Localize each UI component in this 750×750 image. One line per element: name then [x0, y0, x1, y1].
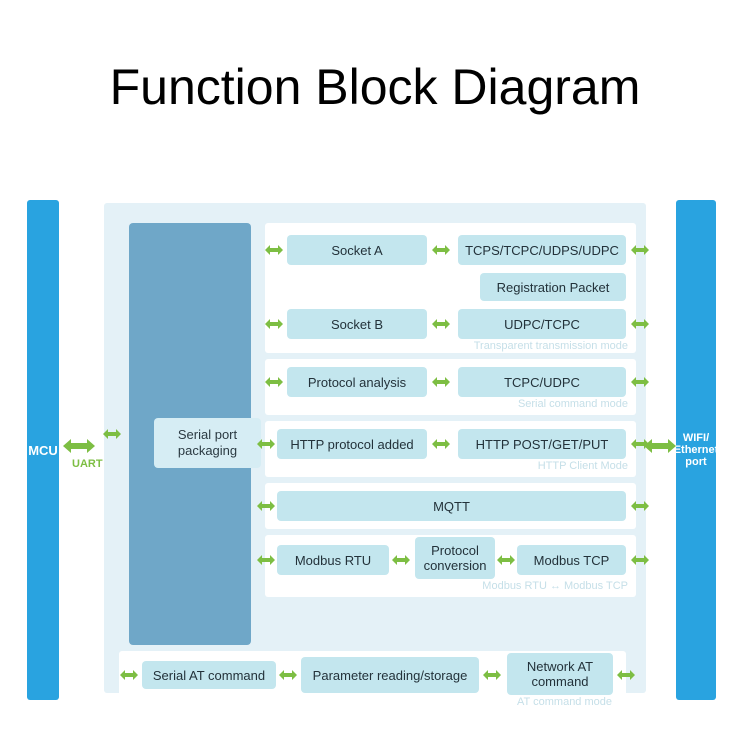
page-title: Function Block Diagram [0, 58, 750, 116]
panel-modbus: Modbus RTU Protocol conversion Modbus TC… [265, 535, 636, 597]
arrow-icon [392, 554, 410, 566]
arrow-icon [432, 438, 450, 450]
mcu-port-bar[interactable]: MCU [27, 200, 59, 700]
serial-processing-column: Serial port packaging [129, 223, 251, 645]
arrow-icon [631, 376, 649, 388]
arrow-icon [631, 554, 649, 566]
arrow-icon [257, 438, 275, 450]
block-tcps-tcpc-udps-udpc[interactable]: TCPS/TCPC/UDPS/UDPC [458, 235, 626, 265]
arrow-icon [257, 500, 275, 512]
arrow-icon [432, 244, 450, 256]
mode-tag-modbus: Modbus RTU ↔ Modbus TCP [482, 580, 628, 592]
block-http-post-get-put[interactable]: HTTP POST/GET/PUT [458, 429, 626, 459]
mode-tag-at-command: AT command mode [517, 696, 612, 708]
block-modbus-tcp[interactable]: Modbus TCP [517, 545, 626, 575]
block-network-at-command[interactable]: Network AT command [507, 653, 613, 695]
mcu-port-label: MCU [28, 443, 58, 458]
arrow-icon [497, 554, 515, 566]
block-registration-packet[interactable]: Registration Packet [480, 273, 626, 301]
arrow-icon [631, 318, 649, 330]
block-udpc-tcpc[interactable]: UDPC/TCPC [458, 309, 626, 339]
network-port-bar[interactable]: WIFI/ Ethernet port [676, 200, 716, 700]
block-serial-at-command[interactable]: Serial AT command [142, 661, 276, 689]
uart-arrow-icon [62, 437, 96, 455]
mode-tag-transparent: Transparent transmission mode [474, 340, 628, 352]
block-protocol-analysis[interactable]: Protocol analysis [287, 367, 427, 397]
network-port-line2: Ethernet [674, 444, 719, 456]
mode-tag-serial-command: Serial command mode [518, 398, 628, 410]
block-socket-b[interactable]: Socket B [287, 309, 427, 339]
arrow-icon [103, 428, 121, 440]
serial-packaging-line2: packaging [178, 443, 237, 458]
panel-at-command: Serial AT command Parameter reading/stor… [119, 651, 626, 715]
block-parameter-reading-storage[interactable]: Parameter reading/storage [301, 657, 479, 693]
protocol-stack-area: Serial port packaging Socket A TCPS/TCPC… [114, 213, 636, 645]
serial-packaging-line1: Serial port [178, 427, 237, 442]
arrow-icon [257, 554, 275, 566]
mode-tag-http-client: HTTP Client Mode [538, 460, 628, 472]
arrow-icon [631, 500, 649, 512]
network-port-line3: port [685, 456, 706, 468]
panel-http-client: HTTP protocol added HTTP POST/GET/PUT HT… [265, 421, 636, 477]
arrow-icon [631, 438, 649, 450]
arrow-icon [265, 244, 283, 256]
panel-mqtt: MQTT [265, 483, 636, 529]
network-port-line1: WIFI/ [683, 432, 709, 444]
arrow-icon [617, 669, 635, 681]
arrow-icon [432, 318, 450, 330]
block-protocol-conversion[interactable]: Protocol conversion [415, 537, 495, 579]
block-mqtt[interactable]: MQTT [277, 491, 626, 521]
arrow-icon [265, 376, 283, 388]
function-block-frame: Serial port packaging Socket A TCPS/TCPC… [104, 203, 646, 693]
block-socket-a[interactable]: Socket A [287, 235, 427, 265]
block-tcpc-udpc[interactable]: TCPC/UDPC [458, 367, 626, 397]
arrow-icon [631, 244, 649, 256]
block-modbus-rtu[interactable]: Modbus RTU [277, 545, 389, 575]
arrow-icon [265, 318, 283, 330]
arrow-icon [483, 669, 501, 681]
serial-port-packaging-block[interactable]: Serial port packaging [154, 418, 261, 468]
serial-port-packaging-label: Serial port packaging [178, 427, 237, 459]
arrow-icon [432, 376, 450, 388]
panel-serial-command: Protocol analysis TCPC/UDPC Serial comma… [265, 359, 636, 415]
panel-transparent-transmission: Socket A TCPS/TCPC/UDPS/UDPC Registratio… [265, 223, 636, 353]
uart-label: UART [72, 458, 103, 470]
arrow-icon [279, 669, 297, 681]
arrow-icon [120, 669, 138, 681]
block-http-protocol-added[interactable]: HTTP protocol added [277, 429, 427, 459]
network-port-label: WIFI/ Ethernet port [674, 432, 719, 468]
